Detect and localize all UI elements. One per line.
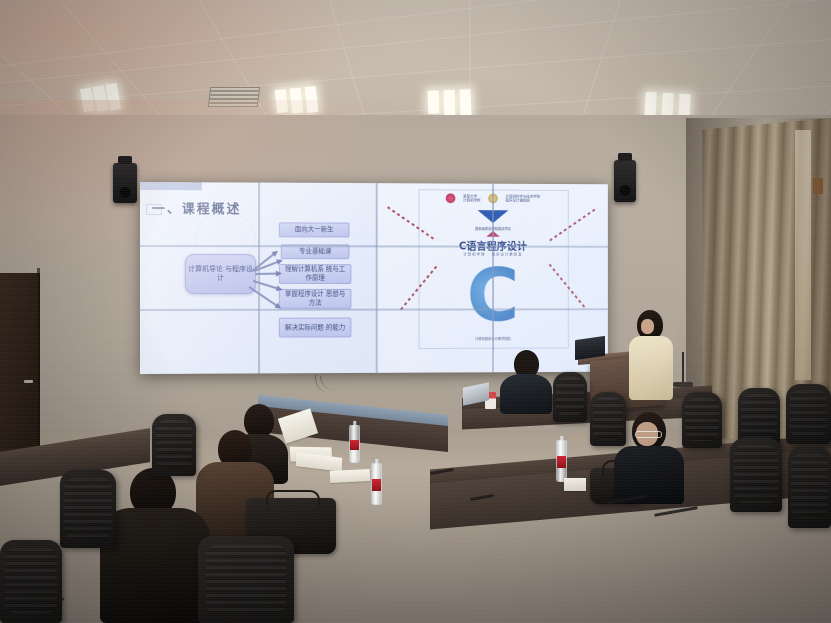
- attendee-dark-jacket: [500, 350, 552, 412]
- ceiling-light-group: [428, 89, 472, 116]
- attendee-front-row: [100, 468, 210, 623]
- ceiling-speaker-left: [113, 163, 137, 203]
- leather-chair[interactable]: [682, 392, 722, 448]
- leather-chair[interactable]: [0, 540, 62, 623]
- logo-left-mark: [446, 193, 456, 203]
- attendee-body: [614, 446, 684, 504]
- slide-title: 一、课程概述: [152, 198, 241, 217]
- slide-title-accent-bar: [140, 182, 202, 190]
- water-bottle: [371, 463, 382, 505]
- attendee-body: [100, 508, 210, 623]
- leather-chair[interactable]: [786, 384, 831, 444]
- curtain-light-gap: [795, 130, 811, 380]
- attendee-body: [500, 374, 552, 414]
- ceiling-light-panel: [428, 90, 440, 113]
- door-handle-icon[interactable]: [24, 380, 33, 383]
- panel-bezel-v3: [492, 184, 494, 373]
- presenter-face: [641, 319, 654, 334]
- panel-bezel-v2: [376, 183, 378, 373]
- water-bottle: [349, 425, 360, 463]
- leather-chair[interactable]: [590, 392, 626, 446]
- logo-left-text: 某某大学 计算机学院: [463, 194, 480, 203]
- outcome-box-4: 掌握程序设计 思想与方法: [279, 289, 352, 309]
- leather-chair[interactable]: [60, 470, 116, 548]
- paper-documents: [564, 478, 586, 491]
- panel-bezel-v1: [258, 183, 260, 374]
- glasses-icon: [635, 431, 662, 438]
- leather-chair[interactable]: [730, 438, 782, 512]
- presenter-at-podium: [627, 310, 673, 400]
- microphone-base: [673, 382, 693, 387]
- slide-center-node: 计算机导论 与程序设计: [185, 254, 256, 294]
- presenter-body: [629, 336, 673, 400]
- lecture-hall-photo: 一、课程概述 计算机导论 与程序设计 面向大一新生 专业基础课 理解计算机系 统…: [0, 0, 831, 623]
- microphone-stand: [682, 352, 684, 384]
- leather-chair[interactable]: [788, 446, 831, 528]
- wall-box-icon: [813, 178, 823, 194]
- lcd-video-wall[interactable]: 一、课程概述 计算机导论 与程序设计 面向大一新生 专业基础课 理解计算机系 统…: [140, 182, 608, 374]
- outcome-box-5: 解决实际问题 的能力: [279, 318, 352, 338]
- outcome-box-3: 理解计算机系 统与工作原理: [279, 264, 352, 284]
- ceiling-light-panel: [645, 92, 657, 116]
- ceiling-grid-line: [0, 37, 831, 109]
- water-bottle: [556, 440, 567, 482]
- leather-chair[interactable]: [152, 414, 196, 476]
- leather-chair[interactable]: [198, 536, 294, 623]
- outcome-box-1: 面向大一新生: [279, 222, 350, 237]
- leather-chair[interactable]: [553, 372, 587, 422]
- paper-documents: [330, 469, 371, 483]
- logo-right-text: 计算机科学与技术学院 程序设计课程组: [506, 194, 540, 203]
- side-door[interactable]: [0, 273, 40, 453]
- ceiling-speaker-right: [614, 160, 636, 202]
- ceiling-light-panel: [444, 90, 456, 115]
- laptop-on-podium[interactable]: [575, 336, 605, 360]
- ceiling-light-panel: [460, 89, 472, 115]
